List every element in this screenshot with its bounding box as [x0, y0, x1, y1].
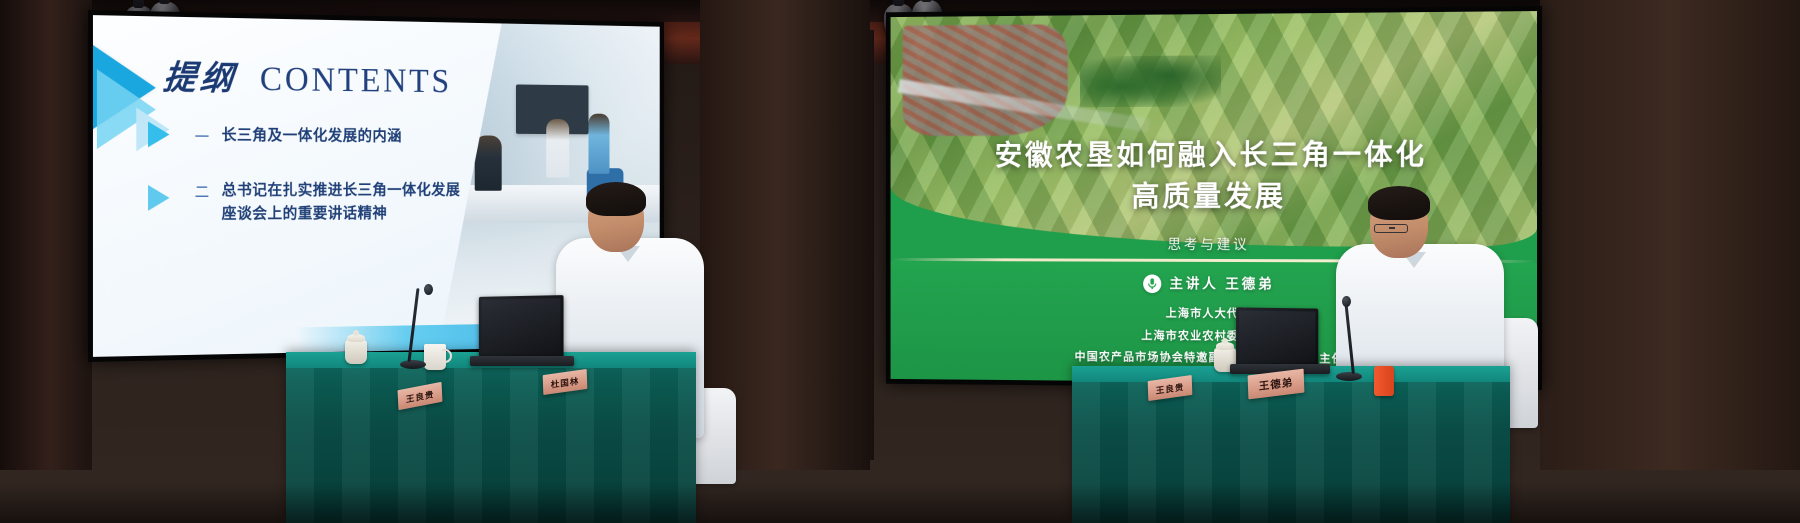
left-slide-item-2-line1: 总书记在扎实推进长三角一体化发展: [222, 182, 461, 199]
right-slide-speaker-label: 主讲人 王德弟: [1170, 274, 1275, 294]
left-slide-item-2: 二 总书记在扎实推进长三角一体化发展 座谈会上的重要讲话精神: [195, 179, 461, 226]
right-slide-headline-line1: 安徽农垦如何融入长三角一体化: [995, 140, 1427, 172]
microphone-head-icon: [424, 284, 433, 295]
microphone-head-icon: [1342, 296, 1351, 307]
bullet-arrow-icon: [148, 121, 169, 147]
presenter-left-hair: [586, 182, 646, 216]
bullet-arrow-icon: [148, 185, 169, 211]
left-slide-item-2-text: 总书记在扎实推进长三角一体化发展 座谈会上的重要讲话精神: [222, 179, 461, 226]
nameplate-left-2-text: 杜国林: [551, 374, 580, 390]
floor-shadow: [0, 483, 1800, 523]
nameplate-right-1-text: 王良贵: [1156, 380, 1185, 396]
teacup[interactable]: [345, 340, 367, 364]
left-slide-item-2-number: 二: [195, 179, 210, 202]
left-slide-title-group: 提纲 CONTENTS: [164, 50, 452, 102]
laptop-base: [470, 356, 574, 366]
left-wall-panel: [0, 0, 92, 470]
nameplate-left-1-text: 王良贵: [405, 387, 434, 405]
microphone-icon: [1143, 274, 1161, 293]
right-slide-headline-line2: 高质量发展: [891, 176, 1537, 218]
left-slide-item-1: 一 长三角及一体化发展的内涵: [195, 124, 402, 149]
photo-person: [475, 135, 502, 190]
left-slide-item-1-number: 一: [195, 124, 210, 147]
conference-hall-scene: 提纲 CONTENTS 一 长三角及一体化发展的内涵 二 总书记在扎实推进长三角…: [0, 0, 1800, 523]
microphone-base: [1336, 372, 1362, 381]
right-slide-headline: 安徽农垦如何融入长三角一体化 高质量发展: [891, 134, 1537, 218]
left-slide-title-cn: 提纲: [161, 50, 239, 99]
left-slide-title-en: CONTENTS: [260, 60, 452, 101]
photo-trees: [1080, 56, 1221, 108]
right-wall-section: [1540, 0, 1800, 470]
left-slide-item-1-text: 长三角及一体化发展的内涵: [222, 124, 402, 148]
laptop-lid: [479, 295, 564, 359]
thermos[interactable]: [1374, 366, 1394, 396]
photo-village: [903, 25, 1067, 136]
nameplate-right-2-text: 王德弟: [1259, 374, 1294, 393]
photo-person: [546, 119, 569, 178]
laptop-screen: [482, 298, 561, 356]
glasses-icon: [1374, 224, 1408, 233]
microphone-base: [400, 360, 426, 369]
presenter-right-hair: [1368, 186, 1430, 220]
left-slide-item-2-line2: 座谈会上的重要讲话精神: [222, 205, 388, 222]
laptop-screen: [1239, 310, 1315, 363]
photo-person: [589, 114, 610, 174]
mug[interactable]: [424, 344, 446, 370]
laptop-lid: [1236, 307, 1318, 366]
